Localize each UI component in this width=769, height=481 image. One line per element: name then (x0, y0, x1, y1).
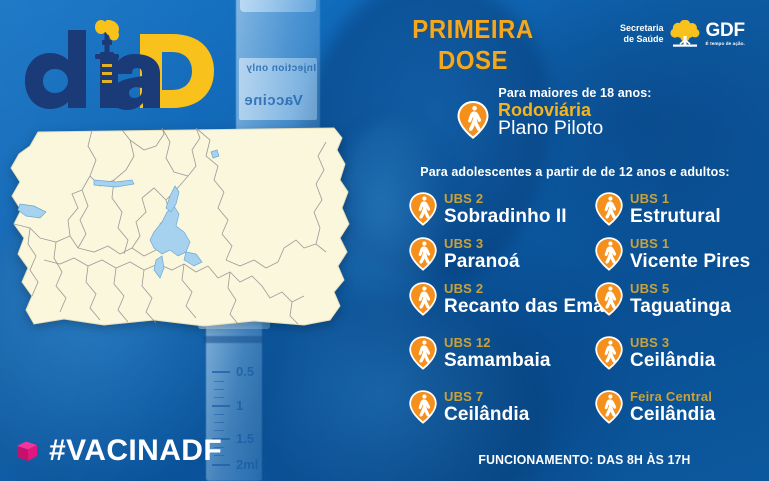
distrito-federal-map (4, 120, 352, 335)
adolescents-section-title: Para adolescentes a partir de de 12 anos… (385, 165, 765, 179)
gdf-name: GDF (706, 21, 745, 40)
operating-hours-text: FUNCIONAMENTO: DAS 8H ÀS 17H (411, 452, 758, 467)
map-pin-icon (594, 236, 624, 272)
health-secretariat-line2: de Saúde (620, 34, 664, 45)
map-pin-icon (594, 281, 624, 317)
list-item-text: UBS 3 Paranoá (444, 237, 520, 271)
cube-icon (14, 438, 40, 464)
unit-label: UBS 1 (630, 237, 750, 250)
list-item: Feira Central Ceilândia (594, 384, 750, 429)
gdf-tree-icon (670, 20, 700, 48)
map-pin-icon (594, 389, 624, 425)
map-pin-icon (408, 191, 438, 227)
unit-list-right: UBS 1 Estrutural UBS 1 Vicente Pires (594, 186, 750, 429)
health-secretariat-label: Secretaria de Saúde (620, 23, 664, 45)
list-item: UBS 2 Recanto das Emas (408, 276, 615, 321)
unit-label: Feira Central (630, 390, 715, 403)
list-item-text: UBS 2 Recanto das Emas (444, 282, 615, 316)
unit-label: UBS 5 (630, 282, 731, 295)
featured-site-text: Rodoviária Plano Piloto (498, 101, 603, 139)
list-item: UBS 1 Vicente Pires (594, 231, 750, 276)
unit-area: Ceilândia (630, 405, 715, 424)
list-item: UBS 2 Sobradinho II (408, 186, 615, 231)
map-pin-icon (594, 335, 624, 371)
featured-site-rodoviaria: Rodoviária Plano Piloto (456, 100, 603, 140)
unit-label: UBS 2 (444, 192, 567, 205)
campaign-hashtag: #VACINADF (14, 434, 222, 468)
map-pin-icon (594, 191, 624, 227)
map-pin-icon (408, 389, 438, 425)
hashtag-label: #VACINADF (49, 434, 222, 468)
list-item: UBS 3 Paranoá (408, 231, 615, 276)
unit-area: Recanto das Emas (444, 297, 615, 316)
gdf-wordmark: GDF É tempo de ação. (706, 21, 745, 47)
unit-area: Ceilândia (444, 405, 529, 424)
unit-area: Vicente Pires (630, 252, 750, 271)
list-item: UBS 12 Samambaia (408, 330, 615, 375)
unit-label: UBS 2 (444, 282, 615, 295)
unit-area: Ceilândia (630, 351, 715, 370)
gdf-tagline: É tempo de ação. (706, 42, 745, 47)
unit-list-left: UBS 2 Sobradinho II UBS 3 Paranoá (408, 186, 615, 429)
map-pin-icon (408, 281, 438, 317)
unit-label: UBS 12 (444, 336, 551, 349)
unit-area: Paranoá (444, 252, 520, 271)
map-pin-icon (408, 335, 438, 371)
unit-area: Sobradinho II (444, 207, 567, 226)
dia-d-logo (22, 18, 237, 113)
list-item-text: UBS 1 Estrutural (630, 192, 721, 226)
list-item: UBS 1 Estrutural (594, 186, 750, 231)
list-item-text: UBS 5 Taguatinga (630, 282, 731, 316)
map-pin-icon (408, 236, 438, 272)
list-item-text: UBS 2 Sobradinho II (444, 192, 567, 226)
unit-label: UBS 3 (630, 336, 715, 349)
page-headline: PRIMEIRA DOSE (379, 14, 567, 76)
list-item-text: UBS 12 Samambaia (444, 336, 551, 370)
list-item-text: UBS 1 Vicente Pires (630, 237, 750, 271)
health-secretariat-line1: Secretaria (620, 23, 664, 34)
unit-area: Estrutural (630, 207, 721, 226)
list-item-text: UBS 7 Ceilândia (444, 390, 529, 424)
poster: Injection only Vaccine 0.5 1 1.5 2ml (0, 0, 769, 481)
unit-label: UBS 1 (630, 192, 721, 205)
featured-site-area: Plano Piloto (498, 119, 603, 139)
gdf-logo: Secretaria de Saúde GDF É tempo de ação. (620, 20, 745, 48)
unit-area: Taguatinga (630, 297, 731, 316)
list-item-text: Feira Central Ceilândia (630, 390, 715, 424)
list-item-text: UBS 3 Ceilândia (630, 336, 715, 370)
list-item: UBS 3 Ceilândia (594, 330, 750, 375)
adults-section-title: Para maiores de 18 anos: (395, 86, 755, 100)
map-pin-icon (456, 100, 490, 140)
list-item: UBS 5 Taguatinga (594, 276, 750, 321)
list-item: UBS 7 Ceilândia (408, 384, 615, 429)
unit-label: UBS 3 (444, 237, 520, 250)
unit-area: Samambaia (444, 351, 551, 370)
unit-label: UBS 7 (444, 390, 529, 403)
